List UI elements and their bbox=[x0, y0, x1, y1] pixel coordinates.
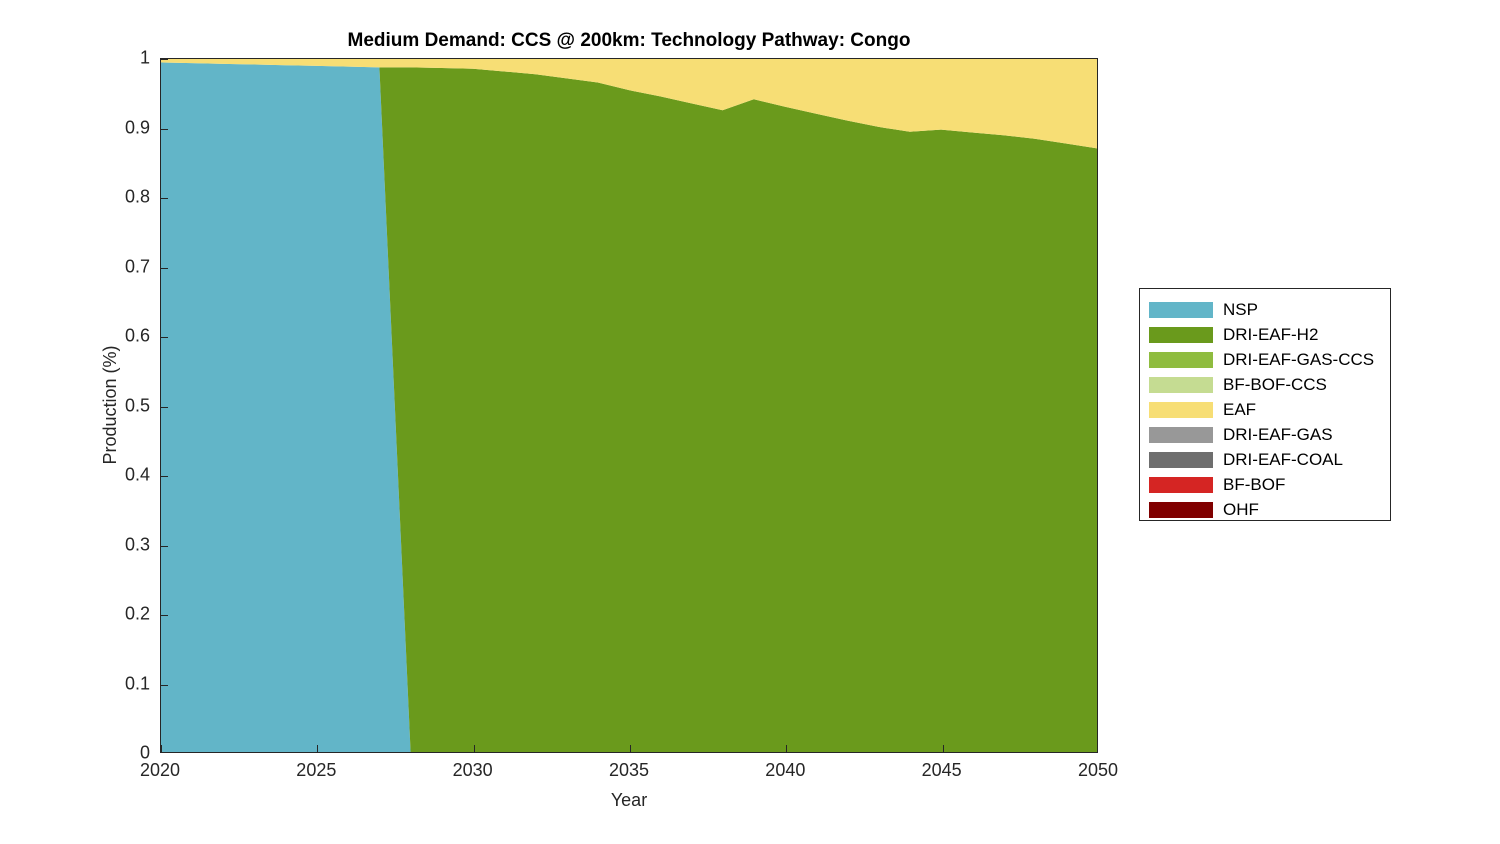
y-axis-label: Production (%) bbox=[100, 305, 121, 505]
legend-swatch-icon bbox=[1149, 377, 1213, 393]
legend-label: NSP bbox=[1223, 301, 1258, 318]
y-tick-label-0.5: 0.5 bbox=[125, 395, 150, 416]
x-tick-label-2035: 2035 bbox=[609, 760, 649, 781]
legend-label: DRI-EAF-H2 bbox=[1223, 326, 1318, 343]
x-tick-label-2040: 2040 bbox=[765, 760, 805, 781]
legend-swatch-icon bbox=[1149, 352, 1213, 368]
legend-item-dri-eaf-coal[interactable]: DRI-EAF-COAL bbox=[1140, 447, 1390, 472]
legend-swatch-icon bbox=[1149, 427, 1213, 443]
legend-label: EAF bbox=[1223, 401, 1256, 418]
y-tick-label-1: 1 bbox=[140, 48, 150, 69]
x-tick-label-2030: 2030 bbox=[453, 760, 493, 781]
legend-swatch-icon bbox=[1149, 402, 1213, 418]
y-tick-label-0: 0 bbox=[140, 743, 150, 764]
legend-label: DRI-EAF-GAS bbox=[1223, 426, 1333, 443]
y-tick-0.7 bbox=[161, 268, 168, 269]
x-tick-label-2045: 2045 bbox=[922, 760, 962, 781]
legend-label: DRI-EAF-COAL bbox=[1223, 451, 1343, 468]
y-tick-label-0.1: 0.1 bbox=[125, 673, 150, 694]
y-tick-0.2 bbox=[161, 615, 168, 616]
y-tick-0.6 bbox=[161, 337, 168, 338]
plot-area bbox=[160, 58, 1098, 753]
legend-swatch-icon bbox=[1149, 327, 1213, 343]
x-tick-2020 bbox=[161, 745, 162, 752]
y-tick-0.4 bbox=[161, 476, 168, 477]
y-tick-0.9 bbox=[161, 129, 168, 130]
legend-item-bf-bof[interactable]: BF-BOF bbox=[1140, 472, 1390, 497]
y-tick-0.3 bbox=[161, 546, 168, 547]
x-axis-label: Year bbox=[160, 790, 1098, 811]
legend-swatch-icon bbox=[1149, 502, 1213, 518]
legend-box: NSPDRI-EAF-H2DRI-EAF-GAS-CCSBF-BOF-CCSEA… bbox=[1139, 288, 1391, 521]
y-tick-label-0.9: 0.9 bbox=[125, 117, 150, 138]
legend-label: BF-BOF-CCS bbox=[1223, 376, 1327, 393]
legend-item-dri-eaf-gas-ccs[interactable]: DRI-EAF-GAS-CCS bbox=[1140, 347, 1390, 372]
legend-item-bf-bof-ccs[interactable]: BF-BOF-CCS bbox=[1140, 372, 1390, 397]
x-tick-2045 bbox=[943, 745, 944, 752]
x-tick-2025 bbox=[317, 745, 318, 752]
stacked-area-plot bbox=[161, 59, 1097, 752]
y-tick-label-0.4: 0.4 bbox=[125, 465, 150, 486]
y-tick-label-0.6: 0.6 bbox=[125, 326, 150, 347]
legend-item-nsp[interactable]: NSP bbox=[1140, 297, 1390, 322]
legend-item-dri-eaf-h2[interactable]: DRI-EAF-H2 bbox=[1140, 322, 1390, 347]
legend-swatch-icon bbox=[1149, 452, 1213, 468]
page-title: Medium Demand: CCS @ 200km: Technology P… bbox=[160, 30, 1098, 52]
legend-item-ohf[interactable]: OHF bbox=[1140, 497, 1390, 522]
y-tick-0.8 bbox=[161, 198, 168, 199]
y-tick-label-0.7: 0.7 bbox=[125, 256, 150, 277]
legend-label: BF-BOF bbox=[1223, 476, 1285, 493]
x-tick-label-2050: 2050 bbox=[1078, 760, 1118, 781]
x-tick-2030 bbox=[474, 745, 475, 752]
x-tick-2040 bbox=[786, 745, 787, 752]
y-tick-label-0.8: 0.8 bbox=[125, 187, 150, 208]
legend-label: OHF bbox=[1223, 501, 1259, 518]
legend-item-eaf[interactable]: EAF bbox=[1140, 397, 1390, 422]
y-tick-label-0.3: 0.3 bbox=[125, 534, 150, 555]
legend-swatch-icon bbox=[1149, 477, 1213, 493]
figure-canvas: Medium Demand: CCS @ 200km: Technology P… bbox=[0, 0, 1500, 844]
legend-swatch-icon bbox=[1149, 302, 1213, 318]
legend-item-dri-eaf-gas[interactable]: DRI-EAF-GAS bbox=[1140, 422, 1390, 447]
x-tick-2035 bbox=[630, 745, 631, 752]
legend-label: DRI-EAF-GAS-CCS bbox=[1223, 351, 1374, 368]
x-tick-label-2025: 2025 bbox=[296, 760, 336, 781]
y-tick-label-0.2: 0.2 bbox=[125, 604, 150, 625]
y-tick-0.1 bbox=[161, 685, 168, 686]
y-tick-0.5 bbox=[161, 407, 168, 408]
y-tick-1 bbox=[161, 59, 168, 60]
